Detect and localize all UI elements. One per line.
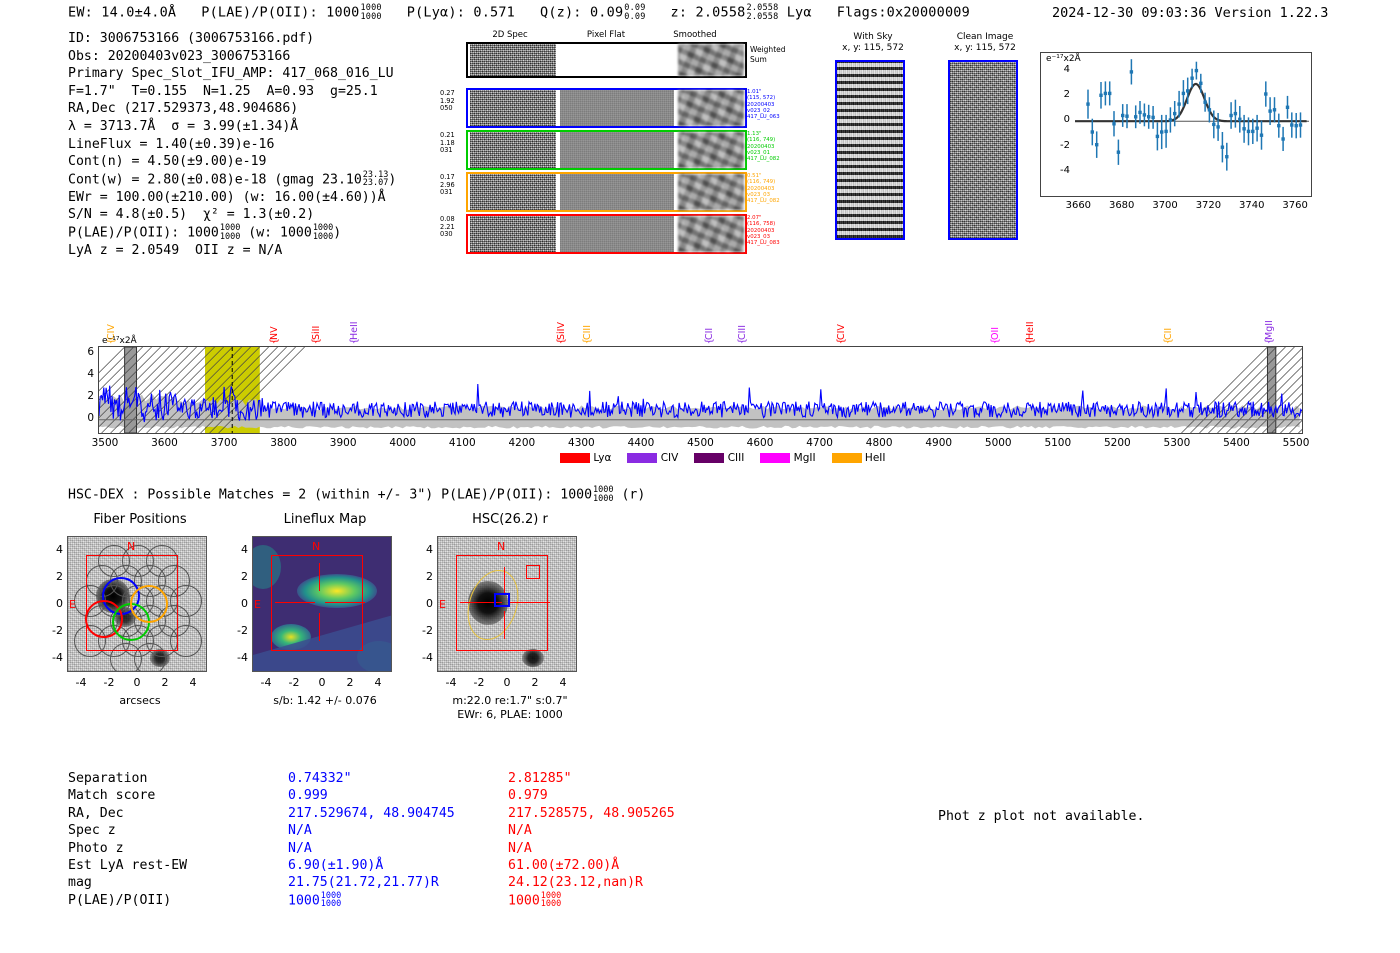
clean-image (948, 60, 1018, 240)
spec2d-weighted-sum-row (466, 42, 747, 78)
spec2d-fiber-row (466, 172, 747, 212)
match-table-cell: 0.74332" (288, 770, 455, 787)
spectrum-xtick: 4700 (796, 437, 844, 449)
fiber-positions-panel: Fiber Positions N E arcsecs -4-2024 420-… (55, 512, 225, 712)
legend-label: Lyα (593, 452, 611, 464)
info-lineflux: LineFlux = 1.40(±0.39)e-16 (68, 136, 396, 154)
match-table-row-label: Photo z (68, 840, 187, 857)
info-id: ID: 3006753166 (3006753166.pdf) (68, 30, 396, 48)
hsc-east-label: E (439, 598, 446, 611)
hsc-xlabel: m:22.0 re:1.7" s:0.7" (419, 694, 601, 707)
header-summary-line: EW: 14.0±4.0Å P(LAE)/P(OII): 10001000100… (68, 4, 970, 21)
panel-ytick: 0 (413, 597, 433, 610)
panel-ytick: -2 (228, 624, 248, 637)
spec2d-fiber-row (466, 130, 747, 170)
info-cont-n: Cont(n) = 4.50(±9.00)e-19 (68, 153, 396, 171)
match-table-cell: N/A (508, 840, 675, 857)
panel-ytick: 4 (228, 543, 248, 556)
spec2d-fiber-left-values: 0.211.18031 (440, 132, 464, 155)
match-table-row-label: P(LAE)/P(OII) (68, 892, 187, 909)
full-spectrum-block: CIV{NV{SiII{HeII{SiIV{CIII{CII{CIII{CIV{… (98, 312, 1308, 462)
spectrum-units-label: e⁻¹⁷x2Å (102, 336, 137, 346)
match-table-row-labels: SeparationMatch scoreRA, DecSpec zPhoto … (68, 770, 187, 909)
hsc-north-label: N (497, 540, 505, 553)
panel-xtick: -4 (252, 676, 280, 689)
info-gmag-fraction: 23.1323.07 (363, 171, 389, 188)
match-table-cell: 61.00(±72.00)Å (508, 857, 675, 874)
panel-xtick: 0 (308, 676, 336, 689)
panel-ytick: 2 (43, 570, 63, 583)
match-table-cell: 24.12(23.12,nan)R (508, 874, 675, 891)
spectrum-line-brace: { (311, 338, 322, 344)
spectrum-ytick: 0 (82, 412, 94, 424)
info-redshifts: LyA z = 2.0549 OII z = N/A (68, 242, 396, 260)
spec2d-fiber-right-values: 2.07"(116, 758)20200403v023_03417_LU_083 (747, 215, 817, 246)
linefit-ytick: -4 (1048, 165, 1070, 176)
header-lya: Lyα (787, 5, 812, 21)
panel-ytick: -2 (43, 624, 63, 637)
spectrum-ytick: 6 (82, 346, 94, 358)
match-table-cell: 0.999 (288, 787, 455, 804)
match-table-cell: 21.75(21.72,21.77)R (288, 874, 455, 891)
spectrum-legend: Lyα CIV CIII MgII HeII (560, 452, 901, 464)
match-table-row-label: mag (68, 874, 187, 891)
panel-xtick: -2 (465, 676, 493, 689)
match-table-row-label: Match score (68, 787, 187, 804)
header-flags: Flags:0x20000009 (837, 5, 970, 21)
spectrum-xtick: 3500 (81, 437, 129, 449)
info-plae-w-fraction: 10001000 (313, 224, 333, 241)
spectrum-line-label: MgII (1264, 312, 1275, 340)
source-info-block: ID: 3006753166 (3006753166.pdf) Obs: 202… (68, 30, 396, 260)
info-specslot: Primary Spec_Slot_IFU_AMP: 417_068_016_L… (68, 65, 396, 83)
spectrum-xtick: 3800 (260, 437, 308, 449)
spectrum-xtick: 5100 (1034, 437, 1082, 449)
hsc-match-box-red (526, 565, 540, 579)
panel-xtick: 2 (336, 676, 364, 689)
header-plya: P(Lyα): 0.571 (407, 5, 515, 21)
match-plae-fraction: 10001000 (321, 892, 341, 909)
panel-xtick: 4 (179, 676, 207, 689)
spectrum-line-label: SiIV (556, 312, 567, 340)
match-table-row-label: Spec z (68, 822, 187, 839)
fiber-marker-orange (130, 585, 168, 623)
spec2d-fiber-row (466, 214, 747, 254)
lineflux-map-image (252, 536, 392, 672)
info-wavelength: λ = 3713.7Å σ = 3.99(±1.34)Å (68, 118, 396, 136)
legend-swatch (694, 453, 724, 463)
linefit-xtick: 3660 (1061, 200, 1095, 211)
spec2d-fiber-row (466, 88, 747, 128)
spectrum-xtick: 4800 (855, 437, 903, 449)
spectrum-line-brace: { (556, 338, 567, 344)
spectrum-legend-entry: MgII (760, 452, 815, 464)
legend-swatch (627, 453, 657, 463)
info-seeing: F=1.7" T=0.155 N=1.25 A=0.93 g=25.1 (68, 83, 396, 101)
spectrum-line-brace: { (349, 338, 360, 344)
match-table-cell: 2.81285" (508, 770, 675, 787)
fiber-positions-title: Fiber Positions (55, 512, 225, 527)
timestamp-version: 2024-12-30 09:03:36 Version 1.22.3 (1052, 5, 1328, 21)
spectrum-xtick: 5200 (1093, 437, 1141, 449)
linefit-units-label: e⁻¹⁷x2Å (1046, 54, 1081, 64)
match-table-cell: 0.979 (508, 787, 675, 804)
fiber-xlabel: arcsecs (55, 694, 225, 707)
hsc-match-box-blue (494, 593, 510, 607)
match-table-column-1: 0.74332"0.999217.529674, 48.904745N/AN/A… (288, 770, 455, 910)
panel-xtick: -2 (95, 676, 123, 689)
panel-ytick: 2 (413, 570, 433, 583)
info-obs: Obs: 20200403v023_3006753166 (68, 48, 396, 66)
spectrum-line-brace: { (582, 338, 593, 344)
spectrum-line-label: OII (990, 312, 1001, 340)
spectrum-line-brace: { (1163, 338, 1174, 344)
panel-xtick: 4 (364, 676, 392, 689)
spec2d-fiber-left-values: 0.271.92050 (440, 90, 464, 113)
match-table-column-2: 2.81285"0.979217.528575, 48.905265N/AN/A… (508, 770, 675, 910)
spec2d-fiber-rows (466, 88, 747, 256)
clean-image-title: Clean Imagex, y: 115, 572 (930, 32, 1040, 54)
linefit-xtick: 3720 (1191, 200, 1225, 211)
panel-ytick: 0 (228, 597, 248, 610)
spec2d-panel-group: 2D Spec Pixel Flat Smoothed WeightedSum … (440, 30, 770, 260)
spec2d-fiber-left-values: 0.082.21030 (440, 216, 464, 239)
lineflux-fov-box (271, 555, 363, 651)
spectrum-xtick: 4500 (677, 437, 725, 449)
panel-ytick: 4 (43, 543, 63, 556)
header-plae-fraction: 10001000 (360, 4, 381, 21)
match-table-cell: N/A (288, 822, 455, 839)
legend-label: HeII (865, 452, 886, 464)
panel-xtick: 0 (123, 676, 151, 689)
header-z: z: 2.0558 (671, 5, 746, 21)
match-table-cell: 217.529674, 48.904745 (288, 805, 455, 822)
spec2d-fiber-left-values: 0.172.96031 (440, 174, 464, 197)
linefit-xtick: 3700 (1148, 200, 1182, 211)
info-cont-w: Cont(w) = 2.80(±0.08)e-18 (gmag 23.1023.… (68, 171, 396, 189)
spectrum-xtick: 4900 (915, 437, 963, 449)
spectrum-xtick: 5300 (1153, 437, 1201, 449)
spectrum-ytick: 2 (82, 390, 94, 402)
panel-xtick: 2 (151, 676, 179, 689)
info-plae-fraction: 10001000 (220, 224, 240, 241)
spec2d-title-2dspec: 2D Spec (460, 30, 560, 40)
lineflux-north-label: N (312, 540, 320, 553)
info-ewr: EWr = 100.00(±210.00) (w: 16.00(±4.60))Å (68, 189, 396, 207)
spectrum-xtick: 3900 (319, 437, 367, 449)
hsc-title: HSC(26.2) r (425, 512, 595, 527)
match-table-row-label: Separation (68, 770, 187, 787)
panel-ytick: 4 (413, 543, 433, 556)
spectrum-line-brace: { (1264, 338, 1275, 344)
lineflux-east-label: E (254, 598, 261, 611)
header-qz-fraction: 0.090.09 (624, 4, 645, 21)
panel-xtick: 4 (549, 676, 577, 689)
spectrum-xtick: 3700 (200, 437, 248, 449)
hsc-image-panel: HSC(26.2) r N E m:22.0 re:1.7" s:0.7" EW… (425, 512, 595, 722)
panel-xtick: 2 (521, 676, 549, 689)
spectrum-line-brace: { (704, 338, 715, 344)
legend-swatch (760, 453, 790, 463)
match-table-cell: 217.528575, 48.905265 (508, 805, 675, 822)
match-table-row-label: RA, Dec (68, 805, 187, 822)
legend-label: CIV (661, 452, 679, 464)
info-snr: S/N = 4.8(±0.5) χ² = 1.3(±0.2) (68, 206, 396, 224)
lineflux-map-panel: Lineflux Map N E s/b: 1.42 +/- 0.076 -4-… (240, 512, 410, 712)
spectrum-ytick: 4 (82, 368, 94, 380)
spectrum-xtick: 5500 (1272, 437, 1320, 449)
photz-note: Phot z plot not available. (938, 809, 1144, 824)
panel-ytick: -4 (413, 651, 433, 664)
legend-swatch (560, 453, 590, 463)
spec2d-fiber-right-values: 1.13"(116, 749)20200403v023_01417_LU_082 (747, 131, 817, 162)
spectrum-xtick: 5400 (1212, 437, 1260, 449)
match-table-cell: 6.90(±1.90)Å (288, 857, 455, 874)
spectrum-line-brace: { (737, 338, 748, 344)
spectrum-xtick: 4000 (379, 437, 427, 449)
match-table-cell: N/A (508, 822, 675, 839)
hscdex-plae-fraction: 10001000 (593, 486, 613, 503)
spectrum-xtick: 5000 (974, 437, 1022, 449)
with-sky-image (835, 60, 905, 240)
spectrum-line-brace: { (269, 338, 280, 344)
linefit-ytick: -2 (1048, 140, 1070, 151)
spectrum-line-label: CII (1163, 312, 1174, 340)
linefit-xtick: 3760 (1278, 200, 1312, 211)
match-table-cell: 100010001000 (508, 892, 675, 910)
hsc-caption2: EWr: 6, PLAE: 1000 (419, 708, 601, 721)
spectrum-xtick: 4400 (617, 437, 665, 449)
legend-label: MgII (794, 452, 816, 464)
spectrum-legend-entry: CIII (694, 452, 744, 464)
spectrum-line-brace: { (990, 338, 1001, 344)
match-table-row-label: Est LyA rest-EW (68, 857, 187, 874)
emission-line-fit-plot: e⁻¹⁷x2Å 366036803700372037403760 -4-2024 (1040, 52, 1312, 217)
spectrum-legend-entry: CIV (627, 452, 678, 464)
panel-ytick: 2 (228, 570, 248, 583)
spectrum-line-label: SiII (311, 312, 322, 340)
hscdex-header: HSC-DEX : Possible Matches = 2 (within +… (68, 486, 645, 503)
spectrum-line-label: CII (704, 312, 715, 340)
fiber-east-label: E (69, 598, 76, 611)
panel-ytick: -2 (413, 624, 433, 637)
info-plae: P(LAE)/P(OII): 100010001000 (w: 10001000… (68, 224, 396, 242)
spec2d-title-smoothed: Smoothed (645, 30, 745, 40)
header-ew: EW: 14.0±4.0Å (68, 5, 176, 21)
linefit-xtick: 3680 (1105, 200, 1139, 211)
with-sky-title: With Skyx, y: 115, 572 (818, 32, 928, 54)
linefit-ytick: 2 (1048, 89, 1070, 100)
legend-swatch (832, 453, 862, 463)
spec2d-title-pixelflat: Pixel Flat (556, 30, 656, 40)
match-plae-fraction: 10001000 (541, 892, 561, 909)
spectrum-line-label: CIII (737, 312, 748, 340)
legend-label: CIII (728, 452, 745, 464)
panel-xtick: 0 (493, 676, 521, 689)
spectrum-line-label: CIII (582, 312, 593, 340)
spectrum-axes (98, 346, 1303, 434)
panel-xtick: -2 (280, 676, 308, 689)
spectrum-line-brace: { (1025, 338, 1036, 344)
info-radec: RA,Dec (217.529373,48.904686) (68, 100, 396, 118)
panel-xtick: -4 (437, 676, 465, 689)
header-z-fraction: 2.05582.0558 (747, 4, 779, 21)
spec2d-fiber-right-values: 1.01"(115, 572)20200403v023_02417_LU_063 (747, 89, 817, 120)
lineflux-map-title: Lineflux Map (240, 512, 410, 527)
spectrum-line-label: NV (269, 312, 280, 340)
spectrum-legend-entry: Lyα (560, 452, 611, 464)
header-qz: Q(z): 0.09 (540, 5, 623, 21)
panel-ytick: -4 (228, 651, 248, 664)
hsc-image (437, 536, 577, 672)
top-cutouts-group: With Skyx, y: 115, 572 Clean Imagex, y: … (810, 30, 1040, 260)
spectrum-xtick: 3600 (141, 437, 189, 449)
match-table-cell: N/A (288, 840, 455, 857)
match-table-cell: 100010001000 (288, 892, 455, 910)
header-plae-value: 1000 (326, 5, 359, 21)
spectrum-xtick: 4300 (557, 437, 605, 449)
spectrum-line-label: HeII (1025, 312, 1036, 340)
panel-ytick: -4 (43, 651, 63, 664)
linefit-ytick: 4 (1048, 64, 1070, 75)
info-chi2: χ² = 1.3(±0.2) (203, 207, 314, 222)
spectrum-xtick: 4600 (736, 437, 784, 449)
spectrum-line-label: HeII (349, 312, 360, 340)
fiber-positions-image (67, 536, 207, 672)
lineflux-xlabel: s/b: 1.42 +/- 0.076 (240, 694, 410, 707)
spec2d-fiber-right-values: 0.51"(116, 749)20200403v023_03417_LU_082 (747, 173, 817, 204)
spectrum-xtick: 4100 (438, 437, 486, 449)
header-plae-label: P(LAE)/P(OII): (201, 5, 318, 21)
spectrum-line-brace: { (836, 338, 847, 344)
spectrum-xtick: 4200 (498, 437, 546, 449)
panel-xtick: -4 (67, 676, 95, 689)
spectrum-line-label: CIV (836, 312, 847, 340)
linefit-xtick: 3740 (1235, 200, 1269, 211)
fiber-north-label: N (127, 540, 135, 553)
spectrum-legend-entry: HeII (832, 452, 886, 464)
linefit-axes (1040, 52, 1312, 197)
panel-ytick: 0 (43, 597, 63, 610)
linefit-ytick: 0 (1048, 114, 1070, 125)
